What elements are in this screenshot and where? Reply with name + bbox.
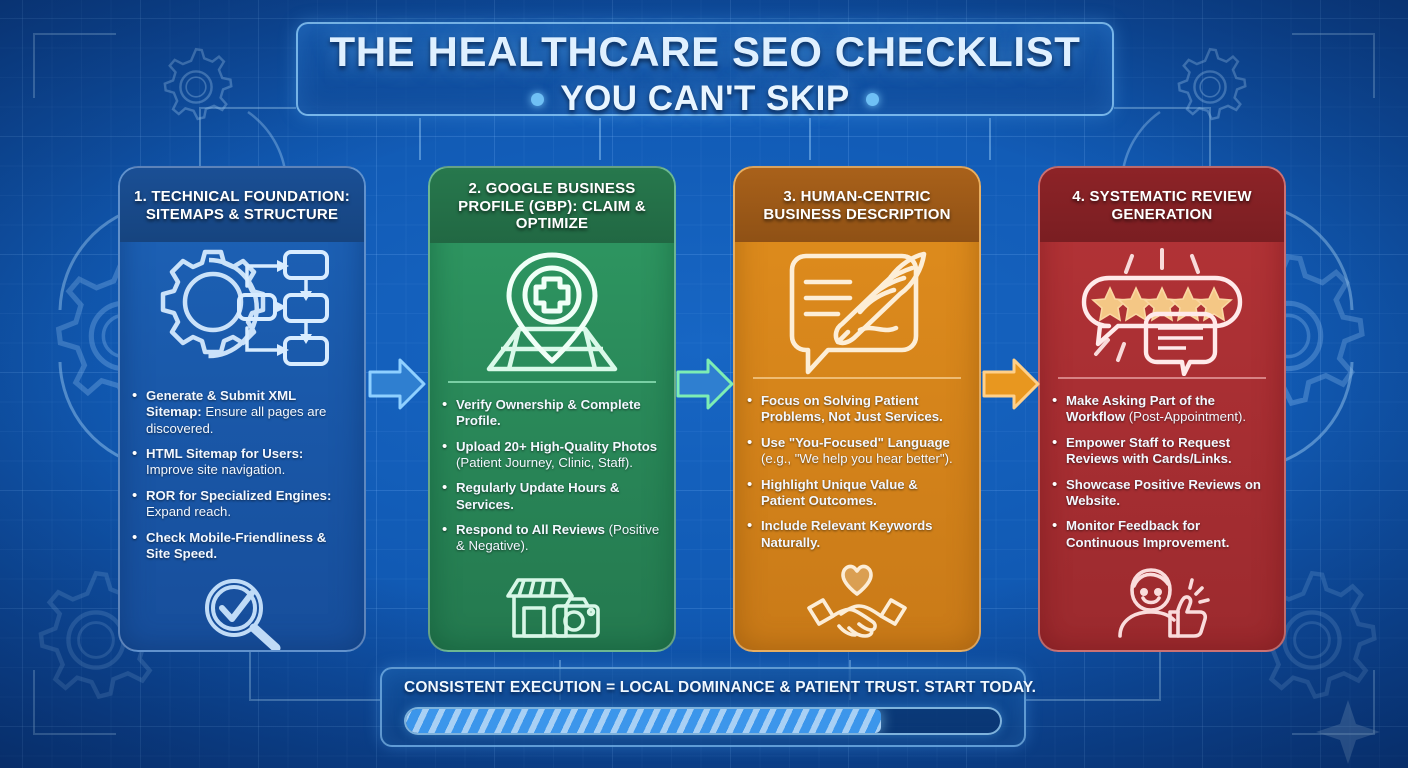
- sparkle-icon: [1316, 700, 1380, 764]
- speech-bubble-quill-icon: [735, 242, 979, 377]
- arrow-1-to-2: [368, 358, 426, 410]
- list-item: Showcase Positive Reviews on Website.: [1052, 477, 1270, 510]
- card-technical-foundation[interactable]: 1. TECHNICAL FOUNDATION: SITEMAPS & STRU…: [118, 166, 366, 652]
- card-4-heading: 4. SYSTEMATIC REVIEW GENERATION: [1040, 168, 1284, 242]
- arrow-2-to-3: [676, 358, 734, 410]
- card-google-business-profile[interactable]: 2. GOOGLE BUSINESS PROFILE (GBP): CLAIM …: [428, 166, 676, 652]
- card-2-heading: 2. GOOGLE BUSINESS PROFILE (GBP): CLAIM …: [430, 168, 674, 243]
- card-3-heading: 3. HUMAN-CENTRIC BUSINESS DESCRIPTION: [735, 168, 979, 242]
- card-1-heading: 1. TECHNICAL FOUNDATION: SITEMAPS & STRU…: [120, 168, 364, 242]
- list-item: Focus on Solving Patient Problems, Not J…: [747, 393, 965, 426]
- gear-sitemap-icon: [120, 242, 364, 374]
- card-human-centric-description[interactable]: 3. HUMAN-CENTRIC BUSINESS DESCRIPTION Fo…: [733, 166, 981, 652]
- list-item: Include Relevant Keywords Naturally.: [747, 518, 965, 551]
- list-item: Empower Staff to Request Reviews with Ca…: [1052, 435, 1270, 468]
- footer-message: CONSISTENT EXECUTION = LOCAL DOMINANCE &…: [404, 679, 1002, 697]
- handshake-heart-icon: [735, 564, 979, 650]
- subtitle-dot-left: [531, 93, 544, 106]
- list-item: Highlight Unique Value & Patient Outcome…: [747, 477, 965, 510]
- person-thumbs-up-icon: [1040, 564, 1284, 650]
- page-subtitle: YOU CAN'T SKIP: [560, 79, 850, 119]
- list-item: Monitor Feedback for Continuous Improvem…: [1052, 518, 1270, 551]
- page-subtitle-row: YOU CAN'T SKIP: [296, 79, 1114, 119]
- list-item: Generate & Submit XML Sitemap: Ensure al…: [132, 388, 350, 437]
- list-item: Verify Ownership & Complete Profile.: [442, 397, 660, 430]
- list-item: ROR for Specialized Engines: Expand reac…: [132, 488, 350, 521]
- list-item: Use "You-Focused" Language (e.g., "We he…: [747, 435, 965, 468]
- subtitle-dot-right: [866, 93, 879, 106]
- five-star-review-bubble-icon: [1040, 242, 1284, 377]
- card-3-bullets: Focus on Solving Patient Problems, Not J…: [735, 379, 979, 564]
- list-item: Respond to All Reviews (Positive & Negat…: [442, 522, 660, 555]
- footer-banner: CONSISTENT EXECUTION = LOCAL DOMINANCE &…: [380, 667, 1026, 747]
- list-item: Upload 20+ High-Quality Photos (Patient …: [442, 439, 660, 472]
- list-item: Check Mobile-Friendliness & Site Speed.: [132, 530, 350, 563]
- arrowhead-decoration: [244, 286, 1166, 300]
- page-title: THE HEALTHCARE SEO CHECKLIST: [296, 28, 1114, 76]
- list-item: Make Asking Part of the Workflow (Post-A…: [1052, 393, 1270, 426]
- card-1-bullets: Generate & Submit XML Sitemap: Ensure al…: [120, 374, 364, 575]
- magnifier-check-icon: [120, 575, 364, 652]
- list-item: Regularly Update Hours & Services.: [442, 480, 660, 513]
- progress-bar: [404, 707, 1002, 735]
- arrow-3-to-4: [982, 358, 1040, 410]
- storefront-camera-icon: [430, 568, 674, 650]
- card-4-bullets: Make Asking Part of the Workflow (Post-A…: [1040, 379, 1284, 564]
- map-pin-medical-icon: [430, 243, 674, 381]
- list-item: HTML Sitemap for Users: Improve site nav…: [132, 446, 350, 479]
- card-2-bullets: Verify Ownership & Complete Profile. Upl…: [430, 383, 674, 568]
- progress-bar-fill: [406, 709, 881, 733]
- card-systematic-review-generation[interactable]: 4. SYSTEMATIC REVIEW GENERATION: [1038, 166, 1286, 652]
